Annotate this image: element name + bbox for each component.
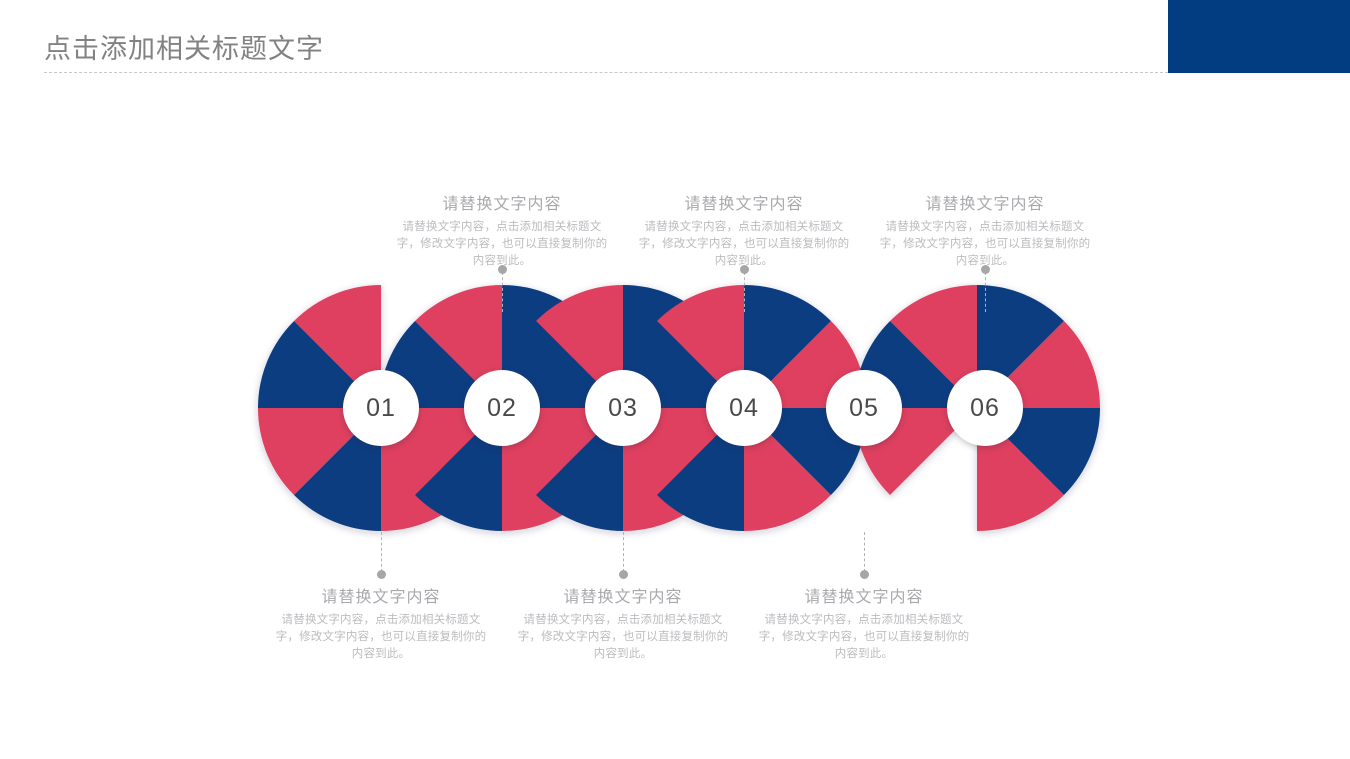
step-badge-04[interactable]: 04	[706, 370, 782, 446]
callout-heading: 请替换文字内容	[758, 583, 970, 607]
step-badge-02[interactable]: 02	[464, 370, 540, 446]
step-badge-label: 06	[970, 394, 1000, 423]
callout-heading: 请替换文字内容	[275, 583, 487, 607]
step-badge-label: 01	[366, 394, 396, 423]
connector-line-02	[502, 272, 503, 312]
slide-canvas: 点击添加相关标题文字 01 02 03 04 05	[0, 0, 1350, 759]
callout-heading: 请替换文字内容	[638, 190, 850, 214]
connector-dot-05	[860, 570, 869, 579]
callout-body: 请替换文字内容，点击添加相关标题文字，修改文字内容，也可以直接复制你的内容到此。	[396, 219, 608, 270]
step-badge-label: 04	[729, 394, 759, 423]
callout-05[interactable]: 请替换文字内容 请替换文字内容，点击添加相关标题文字，修改文字内容，也可以直接复…	[758, 583, 970, 663]
callout-body: 请替换文字内容，点击添加相关标题文字，修改文字内容，也可以直接复制你的内容到此。	[879, 219, 1091, 270]
step-badge-label: 03	[608, 394, 638, 423]
callout-heading: 请替换文字内容	[396, 190, 608, 214]
callout-heading: 请替换文字内容	[879, 190, 1091, 214]
step-badge-label: 02	[487, 394, 517, 423]
connector-line-01	[381, 532, 382, 572]
step-badge-label: 05	[849, 394, 879, 423]
connector-line-03	[623, 532, 624, 572]
callout-body: 请替换文字内容，点击添加相关标题文字，修改文字内容，也可以直接复制你的内容到此。	[517, 612, 729, 663]
callout-04[interactable]: 请替换文字内容 请替换文字内容，点击添加相关标题文字，修改文字内容，也可以直接复…	[638, 190, 850, 270]
connector-line-04	[744, 272, 745, 312]
step-badge-05[interactable]: 05	[826, 370, 902, 446]
step-badge-01[interactable]: 01	[343, 370, 419, 446]
step-badge-06[interactable]: 06	[947, 370, 1023, 446]
step-badge-03[interactable]: 03	[585, 370, 661, 446]
callout-01[interactable]: 请替换文字内容 请替换文字内容，点击添加相关标题文字，修改文字内容，也可以直接复…	[275, 583, 487, 663]
callout-06[interactable]: 请替换文字内容 请替换文字内容，点击添加相关标题文字，修改文字内容，也可以直接复…	[879, 190, 1091, 270]
callout-03[interactable]: 请替换文字内容 请替换文字内容，点击添加相关标题文字，修改文字内容，也可以直接复…	[517, 583, 729, 663]
connector-line-06	[985, 272, 986, 312]
connector-dot-03	[619, 570, 628, 579]
connector-dot-01	[377, 570, 386, 579]
callout-heading: 请替换文字内容	[517, 583, 729, 607]
callout-body: 请替换文字内容，点击添加相关标题文字，修改文字内容，也可以直接复制你的内容到此。	[758, 612, 970, 663]
callout-body: 请替换文字内容，点击添加相关标题文字，修改文字内容，也可以直接复制你的内容到此。	[638, 219, 850, 270]
connector-line-05	[864, 532, 865, 572]
callout-02[interactable]: 请替换文字内容 请替换文字内容，点击添加相关标题文字，修改文字内容，也可以直接复…	[396, 190, 608, 270]
callout-body: 请替换文字内容，点击添加相关标题文字，修改文字内容，也可以直接复制你的内容到此。	[275, 612, 487, 663]
